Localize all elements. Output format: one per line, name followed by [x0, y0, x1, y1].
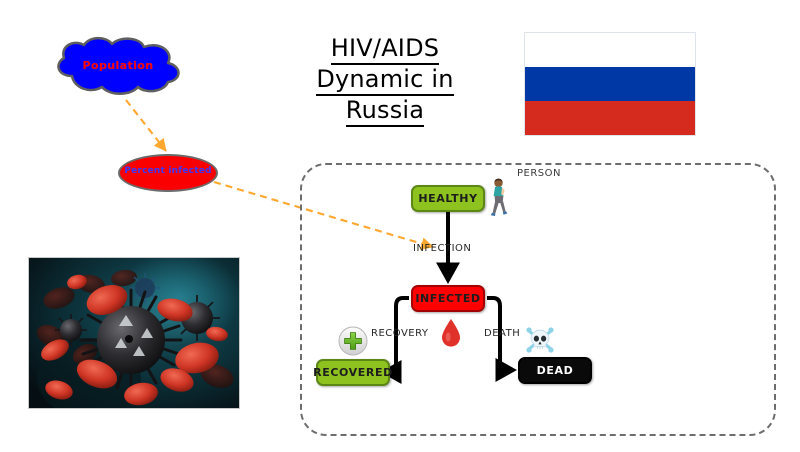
node-healthy-label: HEALTHY: [418, 192, 477, 205]
flow-diagram-container: [300, 163, 776, 436]
hiv-virus-photo: [28, 257, 240, 409]
node-recovered-label: RECOVERED: [313, 366, 393, 379]
title-line-2: Dynamic in: [316, 65, 453, 96]
node-infected-label: INFECTED: [415, 292, 480, 305]
node-infected[interactable]: INFECTED: [411, 285, 485, 312]
node-healthy[interactable]: HEALTHY: [411, 185, 485, 212]
walking-person-icon: [487, 178, 511, 218]
node-dead[interactable]: DEAD: [518, 357, 592, 384]
node-dead-label: DEAD: [537, 364, 574, 377]
blood-drop-icon: [440, 318, 462, 348]
annotation-label-person: PERSON: [517, 168, 561, 179]
percent-infected-ellipse[interactable]: Percent infected: [118, 154, 218, 192]
flag-band-red: [525, 101, 695, 135]
title-line-3: Russia: [346, 96, 424, 127]
population-label: Population: [48, 59, 188, 72]
skull-and-crossbones-icon: [524, 326, 556, 354]
node-recovered[interactable]: RECOVERED: [316, 359, 390, 386]
russia-flag: [524, 32, 696, 136]
title-line-1: HIV/AIDS: [331, 34, 439, 65]
flag-band-blue: [525, 67, 695, 101]
edge-label-infection: INFECTION: [413, 243, 471, 254]
green-plus-icon[interactable]: [338, 326, 368, 356]
page-title: HIV/AIDS Dynamic in Russia: [285, 34, 485, 127]
population-cloud[interactable]: Population: [48, 36, 188, 98]
percent-infected-label: Percent infected: [118, 166, 218, 176]
slide-canvas: HIV/AIDS Dynamic in Russia Population Pe…: [0, 0, 800, 452]
edge-label-recovery: RECOVERY: [371, 328, 429, 339]
flag-band-white: [525, 33, 695, 67]
edge-label-death: DEATH: [484, 328, 520, 339]
connector-population-to-percent: [126, 100, 166, 151]
